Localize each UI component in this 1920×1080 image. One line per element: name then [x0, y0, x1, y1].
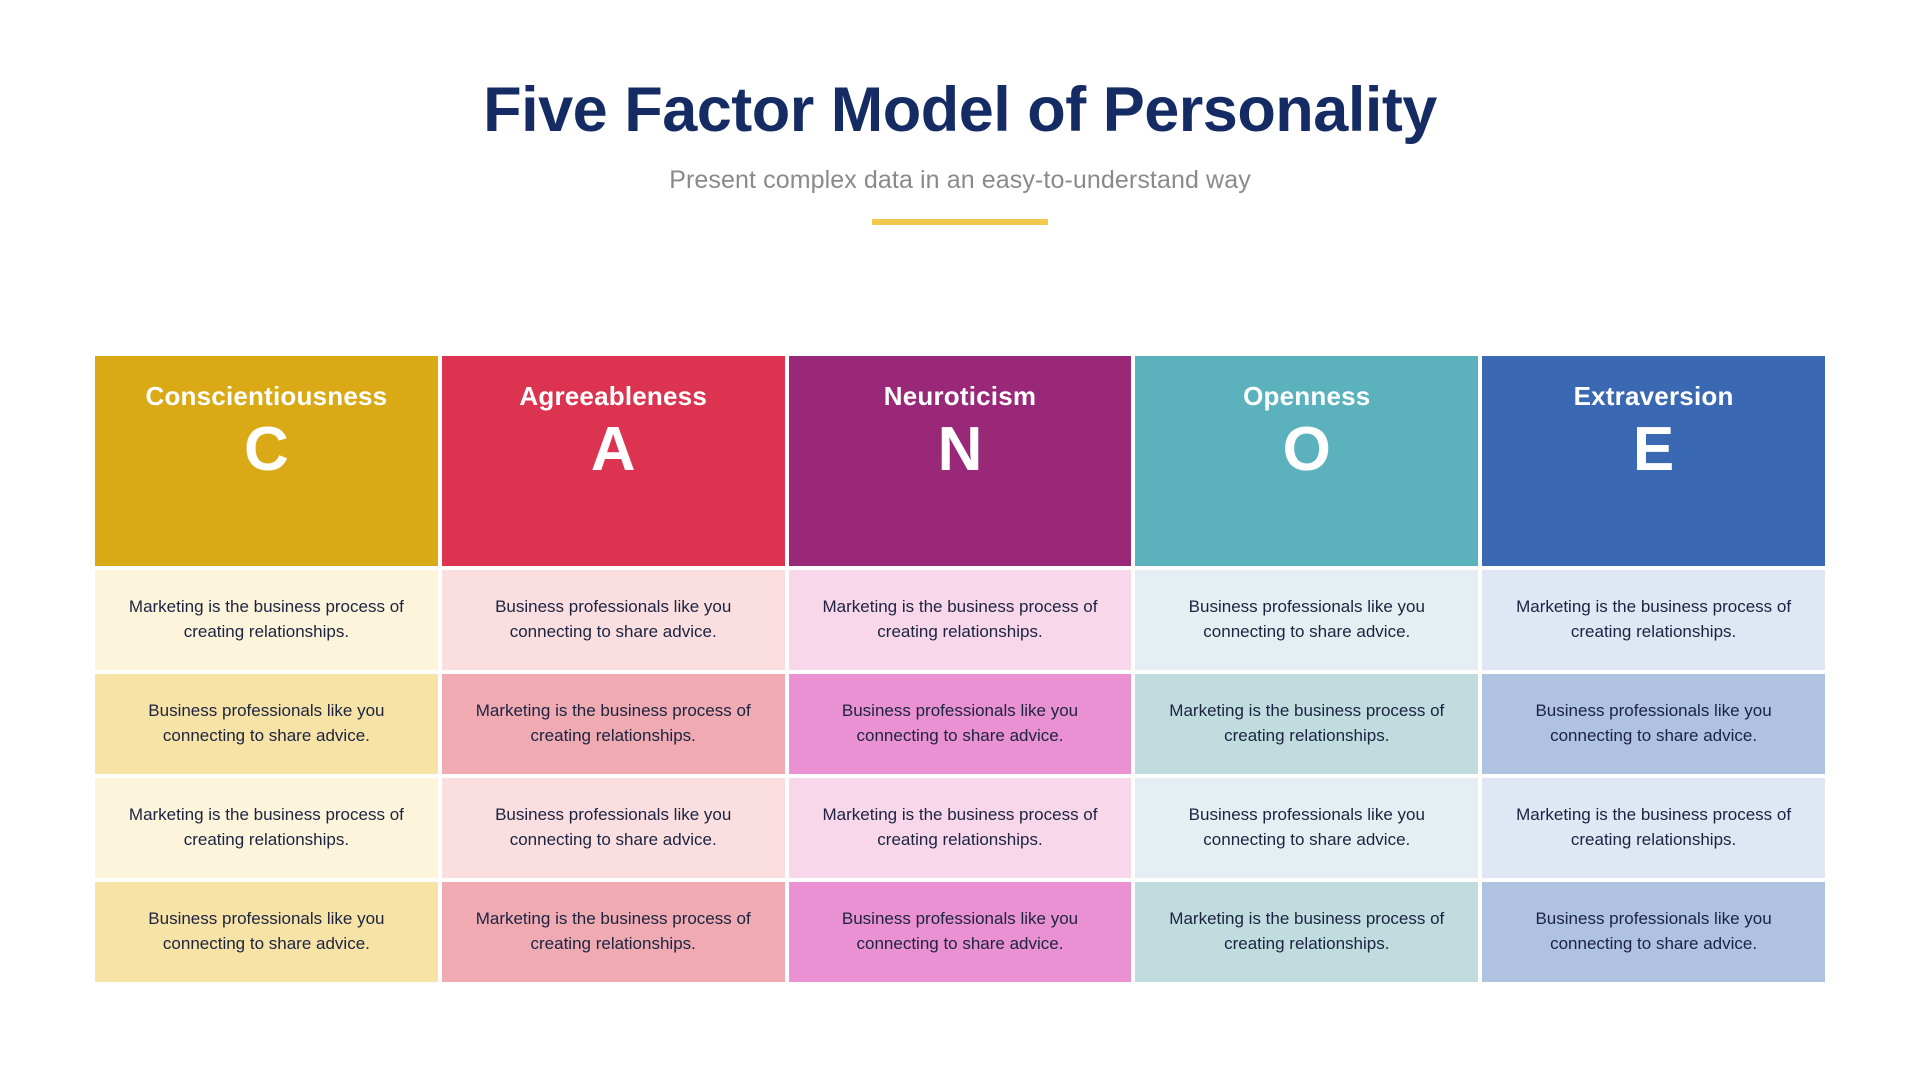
column-letter-extraversion: E — [1633, 417, 1674, 482]
matrix-cell: Business professionals like you connecti… — [1482, 882, 1825, 982]
title-divider — [872, 219, 1048, 225]
matrix-cell: Business professionals like you connecti… — [1135, 778, 1478, 878]
matrix-cell: Business professionals like you connecti… — [95, 674, 438, 774]
matrix-cell: Marketing is the business process of cre… — [1135, 882, 1478, 982]
slide-canvas: Five Factor Model of Personality Present… — [0, 0, 1920, 1080]
matrix-cell: Business professionals like you connecti… — [1135, 570, 1478, 670]
column-title-openness: Openness — [1243, 382, 1370, 411]
column-letter-openness: O — [1283, 417, 1331, 482]
matrix-cell: Marketing is the business process of cre… — [95, 570, 438, 670]
matrix-cell: Marketing is the business process of cre… — [442, 882, 785, 982]
matrix-cell: Marketing is the business process of cre… — [789, 570, 1132, 670]
page-subtitle: Present complex data in an easy-to-under… — [0, 166, 1920, 195]
matrix-cell: Marketing is the business process of cre… — [1135, 674, 1478, 774]
column-header-conscientiousness[interactable]: ConscientiousnessC — [95, 356, 438, 566]
matrix-cell: Business professionals like you connecti… — [789, 882, 1132, 982]
column-header-neuroticism[interactable]: NeuroticismN — [789, 356, 1132, 566]
five-factor-matrix: ConscientiousnessCMarketing is the busin… — [95, 356, 1825, 982]
matrix-cell: Marketing is the business process of cre… — [442, 674, 785, 774]
matrix-column-conscientiousness: ConscientiousnessCMarketing is the busin… — [95, 356, 438, 982]
column-header-extraversion[interactable]: ExtraversionE — [1482, 356, 1825, 566]
matrix-cell: Marketing is the business process of cre… — [1482, 778, 1825, 878]
column-letter-conscientiousness: C — [244, 417, 289, 482]
matrix-column-neuroticism: NeuroticismNMarketing is the business pr… — [789, 356, 1132, 982]
matrix-cell: Business professionals like you connecti… — [95, 882, 438, 982]
title-divider-wrap — [0, 219, 1920, 225]
title-block: Five Factor Model of Personality Present… — [0, 76, 1920, 225]
column-header-openness[interactable]: OpennessO — [1135, 356, 1478, 566]
matrix-column-extraversion: ExtraversionEMarketing is the business p… — [1482, 356, 1825, 982]
page-title: Five Factor Model of Personality — [0, 76, 1920, 144]
column-letter-agreeableness: A — [591, 417, 636, 482]
matrix-column-openness: OpennessOBusiness professionals like you… — [1135, 356, 1478, 982]
matrix-column-agreeableness: AgreeablenessABusiness professionals lik… — [442, 356, 785, 982]
column-title-conscientiousness: Conscientiousness — [146, 382, 388, 411]
matrix-cell: Business professionals like you connecti… — [1482, 674, 1825, 774]
column-letter-neuroticism: N — [938, 417, 983, 482]
matrix-cell: Business professionals like you connecti… — [789, 674, 1132, 774]
matrix-cell: Business professionals like you connecti… — [442, 778, 785, 878]
matrix-cell: Marketing is the business process of cre… — [95, 778, 438, 878]
column-title-neuroticism: Neuroticism — [884, 382, 1036, 411]
column-title-extraversion: Extraversion — [1574, 382, 1734, 411]
column-title-agreeableness: Agreeableness — [519, 382, 707, 411]
column-header-agreeableness[interactable]: AgreeablenessA — [442, 356, 785, 566]
matrix-cell: Business professionals like you connecti… — [442, 570, 785, 670]
matrix-cell: Marketing is the business process of cre… — [1482, 570, 1825, 670]
matrix-cell: Marketing is the business process of cre… — [789, 778, 1132, 878]
